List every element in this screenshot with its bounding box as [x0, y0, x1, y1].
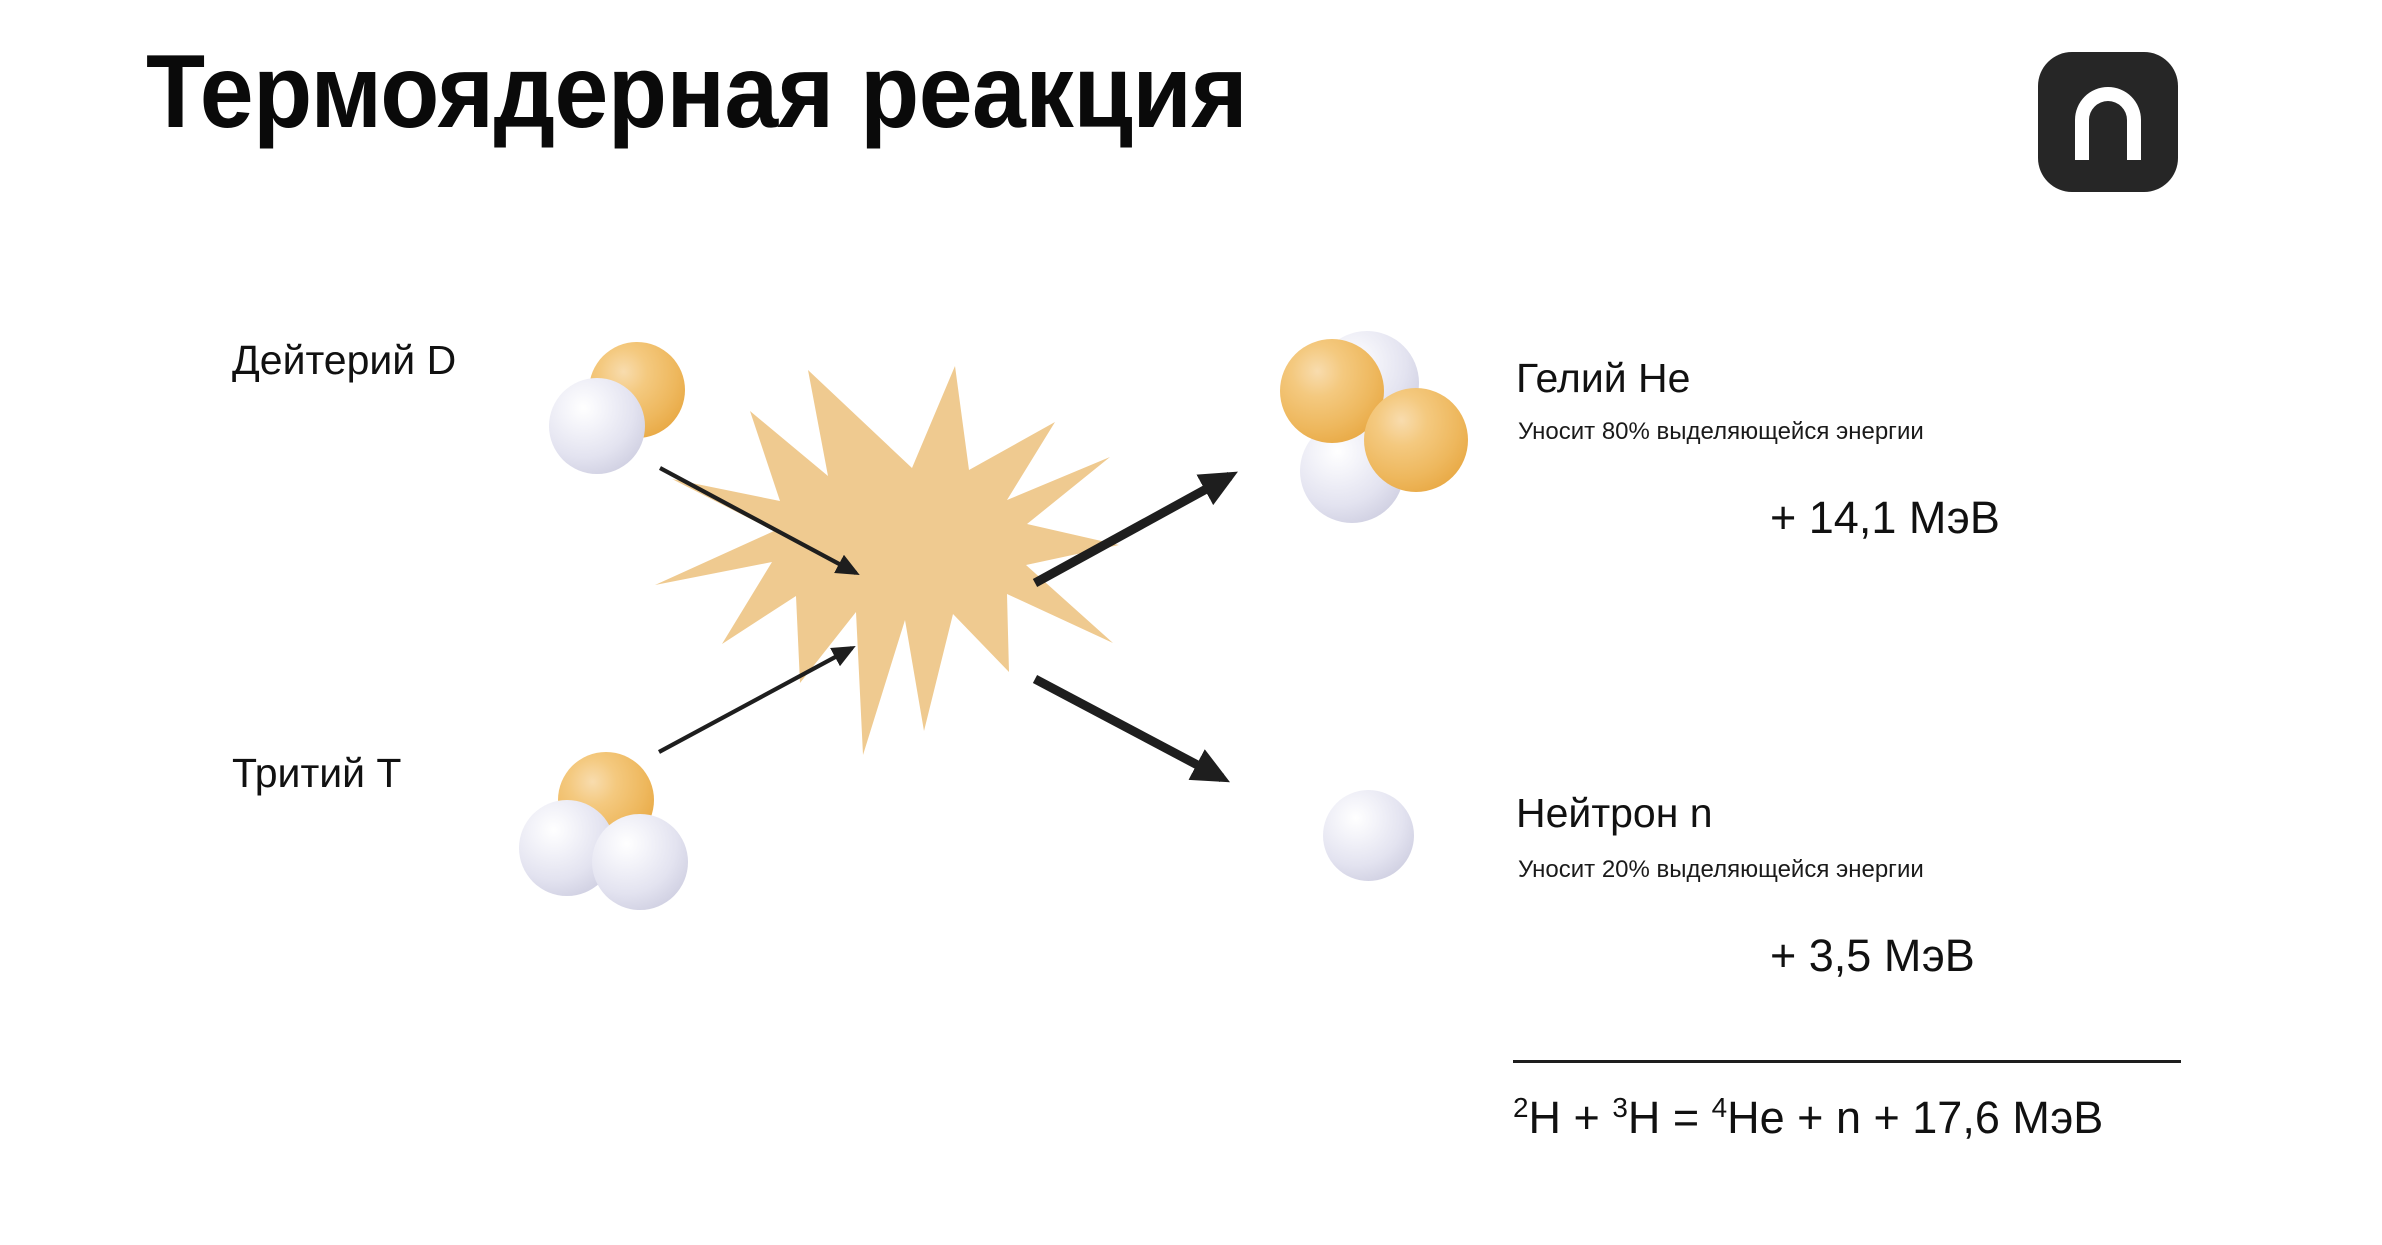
proton-sphere — [1364, 388, 1468, 492]
equation-divider — [1513, 1060, 2181, 1063]
equation-term: He — [1727, 1092, 1785, 1143]
slide-canvas: Термоядерная реакция Дейтерий D — [0, 0, 2382, 1245]
equation-term: + n + 17,6 МэВ — [1785, 1092, 2104, 1143]
label-helium: Гелий He — [1516, 355, 1690, 402]
arrow-burst-to-helium — [1035, 476, 1230, 583]
arrow-burst-to-neutron — [1035, 679, 1222, 778]
reaction-diagram-vectors — [0, 0, 2382, 1245]
fusion-burst-icon — [655, 366, 1119, 755]
note-neutron-energy-share: Уносит 20% выделяющейся энергии — [1518, 856, 1924, 884]
page-title: Термоядерная реакция — [146, 38, 1247, 147]
arrow-deuterium-to-burst — [660, 468, 856, 573]
note-helium-energy-share: Уносит 80% выделяющейся энергии — [1518, 418, 1924, 446]
neutron-sphere — [1323, 790, 1414, 881]
equation-term: + — [1561, 1092, 1612, 1143]
equation-superscript: 3 — [1612, 1092, 1628, 1123]
equation-term: H — [1529, 1092, 1562, 1143]
equation-term: H — [1628, 1092, 1661, 1143]
equation-superscript: 4 — [1712, 1092, 1728, 1123]
label-neutron: Нейтрон n — [1516, 790, 1713, 837]
neutron-sphere — [549, 378, 645, 474]
value-neutron-energy: + 3,5 МэВ — [1770, 930, 1975, 982]
neutron-sphere — [592, 814, 688, 910]
arrow-tritium-to-burst — [659, 648, 852, 752]
summary-equation: 2H + 3H = 4He + n + 17,6 МэВ — [1513, 1092, 2103, 1144]
equation-term: = — [1660, 1092, 1711, 1143]
value-helium-energy: + 14,1 МэВ — [1770, 492, 2000, 544]
label-deuterium: Дейтерий D — [232, 337, 456, 384]
n-letter-icon — [2038, 52, 2178, 192]
brand-logo[interactable] — [2038, 52, 2178, 192]
label-tritium: Тритий T — [232, 750, 401, 797]
equation-superscript: 2 — [1513, 1092, 1529, 1123]
